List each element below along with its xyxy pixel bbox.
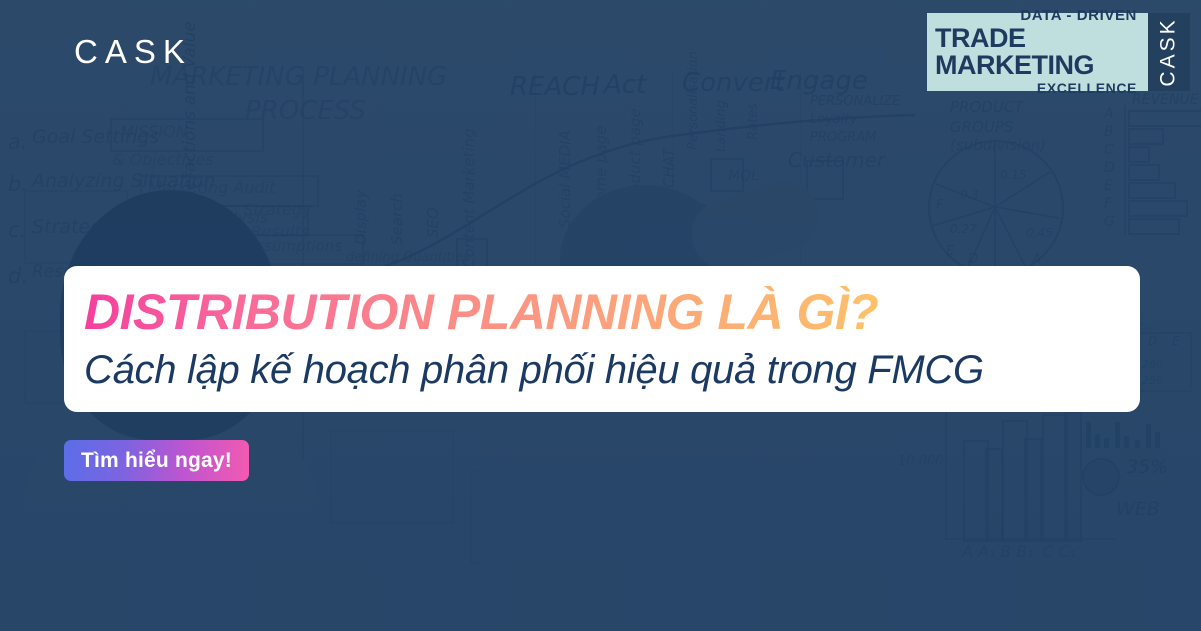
badge-line-excellence: EXCELLENCE [1037, 80, 1137, 96]
title-card: DISTRIBUTION PLANNING LÀ GÌ? Cách lập kế… [64, 266, 1140, 412]
trade-marketing-badge: DATA - DRIVEN TRADE MARKETING EXCELLENCE… [927, 13, 1190, 91]
badge-line-trade-marketing: TRADE MARKETING [935, 25, 1137, 80]
headline-text: DISTRIBUTION PLANNING LÀ GÌ? [84, 286, 1126, 339]
badge-main-panel: DATA - DRIVEN TRADE MARKETING EXCELLENCE [927, 13, 1148, 91]
marketing-banner: MARKETING PLANNING PROCESS a. Goal Setti… [0, 0, 1201, 631]
badge-cask-strip: CASK [1148, 13, 1190, 91]
badge-cask-text: CASK [1157, 17, 1181, 86]
badge-line-data-driven: DATA - DRIVEN [1020, 8, 1137, 24]
cask-logo[interactable]: CASK [74, 33, 192, 71]
learn-more-button[interactable]: Tìm hiểu ngay! [64, 440, 249, 481]
subheadline-text: Cách lập kế hoạch phân phối hiệu quả tro… [84, 348, 1126, 392]
